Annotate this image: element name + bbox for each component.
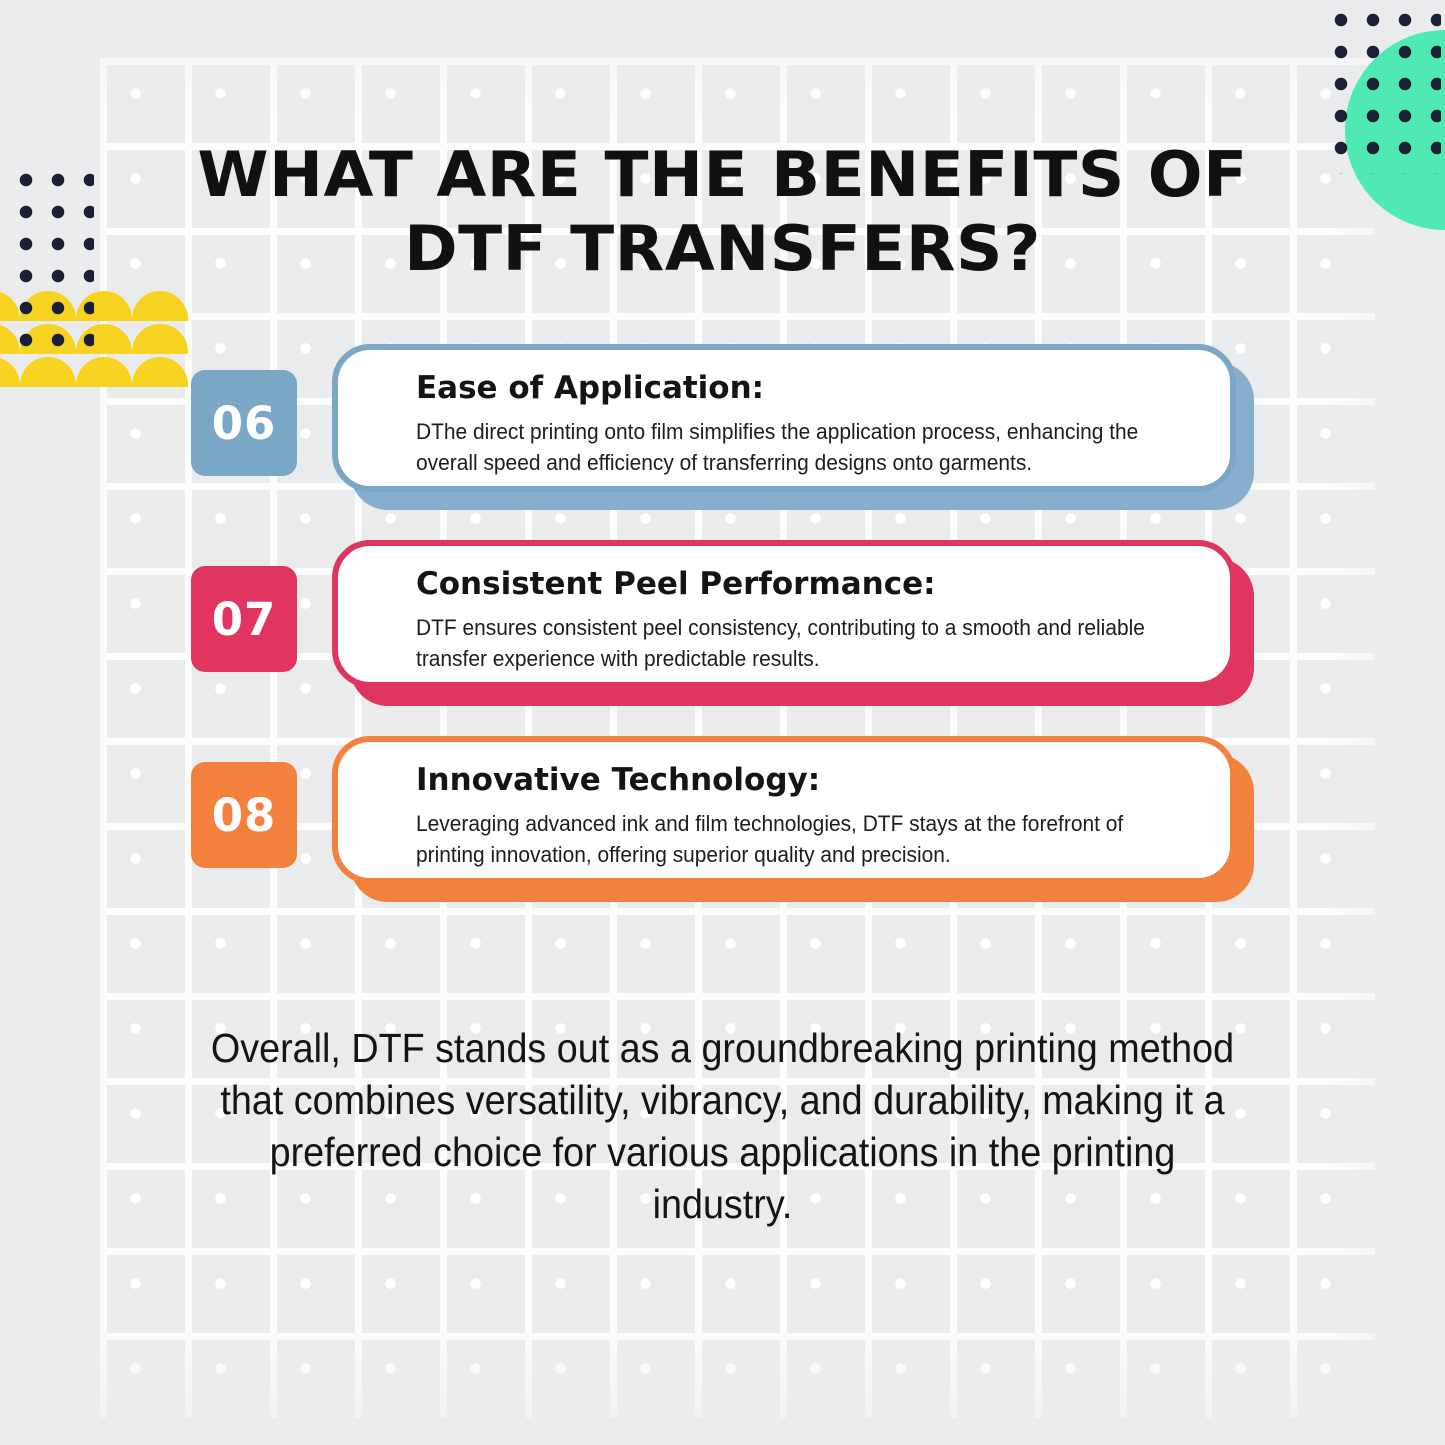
halfcircle-shape — [132, 291, 188, 321]
halfcircle-shape — [0, 291, 20, 321]
card-number-badge: 08 — [191, 762, 297, 868]
dot-matrix-right — [1325, 4, 1441, 174]
card-number-label: 08 — [212, 789, 277, 842]
benefit-card[interactable]: Ease of Application: DThe direct printin… — [332, 344, 1236, 492]
card-description: DThe direct printing onto film simplifie… — [416, 416, 1169, 478]
infographic-canvas: WHAT ARE THE BENEFITS OF DTF TRANSFERS? … — [0, 0, 1445, 1445]
card-heading: Ease of Application: — [416, 370, 764, 406]
teal-circle-decoration — [1345, 30, 1445, 230]
summary-paragraph: Overall, DTF stands out as a groundbreak… — [205, 1022, 1240, 1230]
halfcircle-shape — [76, 291, 132, 321]
benefit-card-row[interactable]: 06 Ease of Application: DThe direct prin… — [0, 340, 1445, 536]
card-heading: Consistent Peel Performance: — [416, 566, 936, 602]
card-number-badge: 06 — [191, 370, 297, 476]
card-description: DTF ensures consistent peel consistency,… — [416, 612, 1169, 674]
dot-matrix-left — [10, 164, 94, 364]
card-number-badge: 07 — [191, 566, 297, 672]
halfcircle-row — [0, 288, 152, 321]
halfcircle-shape — [20, 291, 76, 321]
benefit-card[interactable]: Consistent Peel Performance: DTF ensures… — [332, 540, 1236, 688]
card-heading: Innovative Technology: — [416, 762, 820, 798]
benefit-card-row[interactable]: 08 Innovative Technology: Leveraging adv… — [0, 732, 1445, 928]
page-title: WHAT ARE THE BENEFITS OF DTF TRANSFERS? — [127, 138, 1318, 286]
benefit-card-row[interactable]: 07 Consistent Peel Performance: DTF ensu… — [0, 536, 1445, 732]
benefit-card-list: 06 Ease of Application: DThe direct prin… — [0, 340, 1445, 928]
card-number-label: 06 — [212, 397, 277, 450]
benefit-card[interactable]: Innovative Technology: Leveraging advanc… — [332, 736, 1236, 884]
card-description: Leveraging advanced ink and film technol… — [416, 808, 1169, 870]
card-number-label: 07 — [212, 593, 277, 646]
